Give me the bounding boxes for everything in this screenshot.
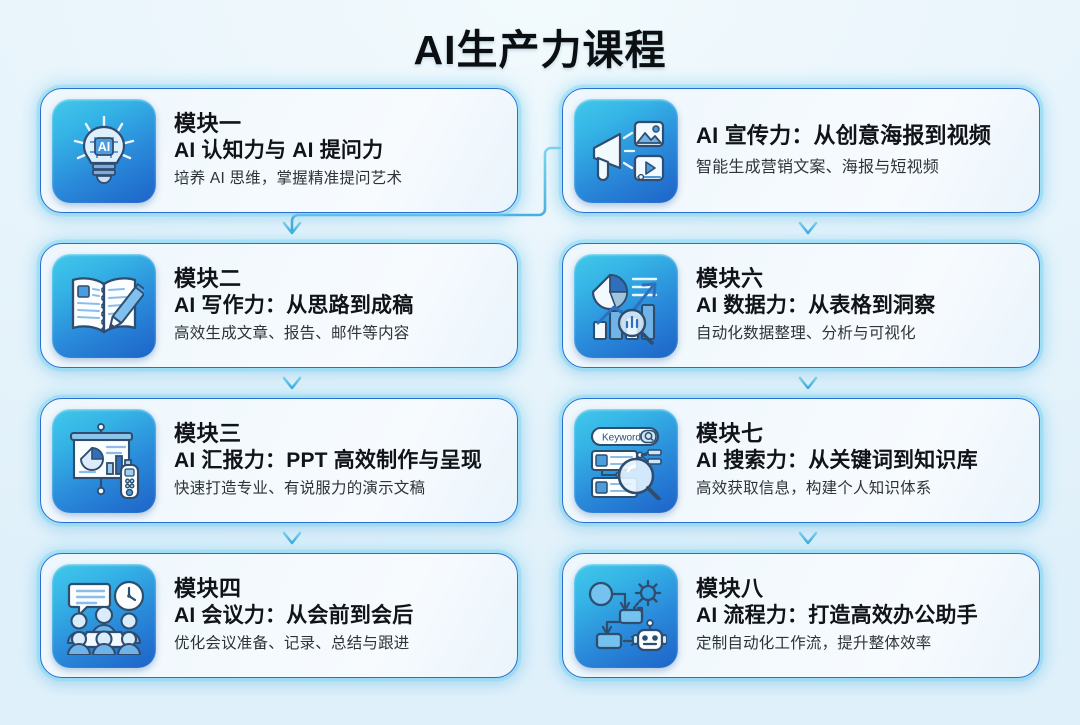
module-card-5[interactable]: AI 宣传力：从创意海报到视频 智能生成营销文案、海报与短视频 [562, 88, 1040, 213]
module-card-1-title: AI 认知力与 AI 提问力 [174, 138, 499, 164]
workflow-robot-icon [574, 564, 678, 668]
module-card-7-desc: 高效获取信息，构建个人知识体系 [696, 479, 1021, 500]
lightbulb-icon-label: AI [98, 140, 111, 154]
module-card-7-text: 模块七 AI 搜索力：从关键词到知识库 高效获取信息，构建个人知识体系 [696, 421, 1027, 500]
notebook-pen-icon [52, 254, 156, 358]
module-card-3[interactable]: 模块三 AI 汇报力：PPT 高效制作与呈现 快速打造专业、有说服力的演示文稿 [40, 398, 518, 523]
module-card-2-desc: 高效生成文章、报告、邮件等内容 [174, 324, 499, 345]
module-card-8-title: AI 流程力：打造高效办公助手 [696, 603, 1021, 629]
module-card-3-desc: 快速打造专业、有说服力的演示文稿 [174, 479, 499, 500]
megaphone-media-icon [574, 99, 678, 203]
presentation-board-icon [52, 409, 156, 513]
module-card-4-desc: 优化会议准备、记录、总结与跟进 [174, 634, 499, 655]
module-card-8-desc: 定制自动化工作流，提升整体效率 [696, 634, 1021, 655]
module-card-1[interactable]: AI 模块一 AI 认知力与 AI 提问力 培养 AI 思维，掌握精准提问艺术 [40, 88, 518, 213]
module-card-6-text: 模块六 AI 数据力：从表格到洞察 自动化数据整理、分析与可视化 [696, 266, 1027, 345]
module-card-7-title: AI 搜索力：从关键词到知识库 [696, 448, 1021, 474]
module-card-6-desc: 自动化数据整理、分析与可视化 [696, 324, 1021, 345]
module-card-4-label: 模块四 [174, 576, 499, 602]
module-card-6[interactable]: 模块六 AI 数据力：从表格到洞察 自动化数据整理、分析与可视化 [562, 243, 1040, 368]
module-card-8-text: 模块八 AI 流程力：打造高效办公助手 定制自动化工作流，提升整体效率 [696, 576, 1027, 655]
module-card-7-label: 模块七 [696, 421, 1021, 447]
chart-analytics-icon [574, 254, 678, 358]
lightbulb-ai-icon: AI [52, 99, 156, 203]
module-card-6-title: AI 数据力：从表格到洞察 [696, 293, 1021, 319]
module-card-3-title: AI 汇报力：PPT 高效制作与呈现 [174, 448, 499, 474]
module-card-4[interactable]: 模块四 AI 会议力：从会前到会后 优化会议准备、记录、总结与跟进 [40, 553, 518, 678]
module-card-2-label: 模块二 [174, 266, 499, 292]
module-card-2-text: 模块二 AI 写作力：从思路到成稿 高效生成文章、报告、邮件等内容 [174, 266, 505, 345]
module-card-3-text: 模块三 AI 汇报力：PPT 高效制作与呈现 快速打造专业、有说服力的演示文稿 [174, 421, 505, 500]
module-card-7[interactable]: Keyword... [562, 398, 1040, 523]
module-card-3-label: 模块三 [174, 421, 499, 447]
module-card-1-desc: 培养 AI 思维，掌握精准提问艺术 [174, 169, 499, 190]
module-card-6-label: 模块六 [696, 266, 1021, 292]
module-card-8[interactable]: 模块八 AI 流程力：打造高效办公助手 定制自动化工作流，提升整体效率 [562, 553, 1040, 678]
module-grid: AI 模块一 AI 认知力与 AI 提问力 培养 AI 思维，掌握精准提问艺术 [40, 88, 1040, 678]
page-title: AI生产力课程 [0, 16, 1080, 76]
module-card-5-text: AI 宣传力：从创意海报到视频 智能生成营销文案、海报与短视频 [696, 122, 1027, 178]
module-card-5-title: AI 宣传力：从创意海报到视频 [696, 122, 1021, 150]
module-card-4-title: AI 会议力：从会前到会后 [174, 603, 499, 629]
module-card-1-text: 模块一 AI 认知力与 AI 提问力 培养 AI 思维，掌握精准提问艺术 [174, 111, 505, 190]
module-card-1-label: 模块一 [174, 111, 499, 137]
module-card-4-text: 模块四 AI 会议力：从会前到会后 优化会议准备、记录、总结与跟进 [174, 576, 505, 655]
search-knowledge-icon: Keyword... [574, 409, 678, 513]
module-card-8-label: 模块八 [696, 576, 1021, 602]
module-card-2[interactable]: 模块二 AI 写作力：从思路到成稿 高效生成文章、报告、邮件等内容 [40, 243, 518, 368]
module-card-5-desc: 智能生成营销文案、海报与短视频 [696, 157, 1021, 179]
module-card-2-title: AI 写作力：从思路到成稿 [174, 293, 499, 319]
meeting-people-icon [52, 564, 156, 668]
